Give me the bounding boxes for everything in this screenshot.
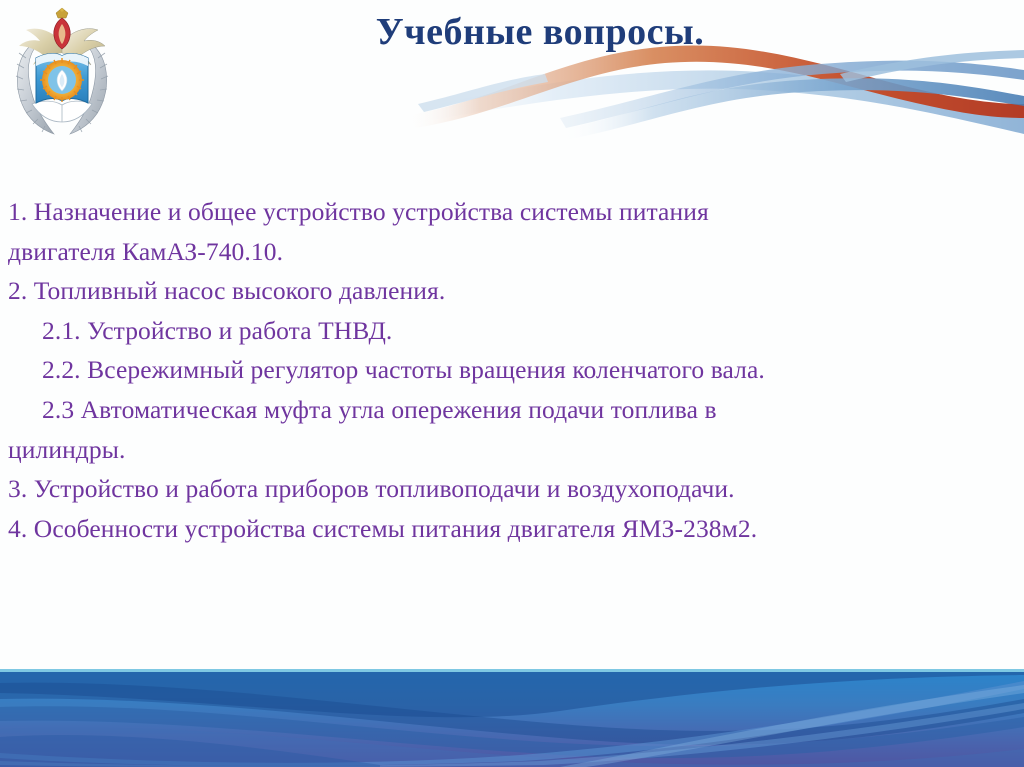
list-item: 3. Устройство и работа приборов топливоп… bbox=[8, 469, 1020, 509]
list-item: двигателя КамАЗ-740.10. bbox=[8, 232, 1020, 272]
list-item: 4. Особенности устройства системы питани… bbox=[8, 509, 1020, 549]
slide-header: Учебные вопросы. bbox=[0, 0, 1024, 150]
list-item: 2.1. Устройство и работа ТНВД. bbox=[8, 311, 1020, 351]
page-title: Учебные вопросы. bbox=[150, 8, 930, 56]
list-item: 2.2. Всережимный регулятор частоты враще… bbox=[8, 350, 1020, 390]
list-item: цилиндры. bbox=[8, 430, 1020, 470]
list-item: 2. Топливный насос высокого давления. bbox=[8, 271, 1020, 311]
presentation-slide: Учебные вопросы. 1. Назначение и общее у… bbox=[0, 0, 1024, 767]
military-academy-emblem bbox=[10, 6, 114, 138]
learning-questions-list: 1. Назначение и общее устройство устройс… bbox=[8, 192, 1020, 548]
list-item: 1. Назначение и общее устройство устройс… bbox=[8, 192, 1020, 232]
blue-wave-banner bbox=[0, 669, 1024, 767]
list-item: 2.3 Автоматическая муфта угла опережения… bbox=[8, 390, 1020, 430]
crown-shape bbox=[56, 8, 68, 18]
